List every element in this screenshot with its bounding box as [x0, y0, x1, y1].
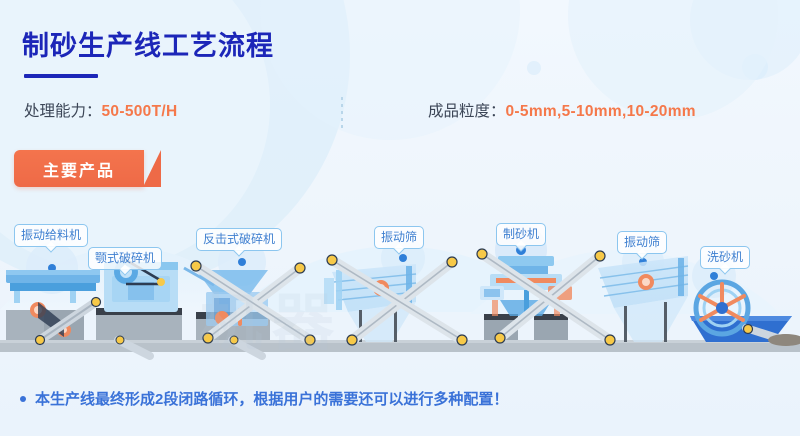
bullet-icon [20, 396, 26, 402]
page-title: 制砂生产线工艺流程 [22, 24, 274, 63]
process-flow-illustration [0, 190, 800, 370]
main-products-banner: 主要产品 [14, 150, 144, 187]
main-products-banner-label: 主要产品 [43, 157, 115, 181]
spec-size: 成品粒度：0-5mm,5-10mm,10-20mm [428, 99, 696, 121]
title-underline [24, 74, 98, 78]
spec-divider [341, 97, 343, 131]
equipment-label-impact-crusher: 反击式破碎机 [196, 228, 282, 251]
equipment-label-vibrating-screen-2: 振动筛 [617, 231, 667, 254]
background-dot-b [527, 61, 541, 75]
spec-size-value: 0-5mm,5-10mm,10-20mm [506, 103, 696, 120]
equipment-label-jaw-crusher: 颚式破碎机 [88, 247, 162, 270]
sand-production-line-infographic: 制砂生产线工艺流程 处理能力：50-500T/H 成品粒度：0-5mm,5-10… [0, 0, 800, 436]
spec-size-label: 成品粒度： [428, 103, 506, 120]
equipment-label-vibrating-feeder: 振动给料机 [14, 224, 88, 247]
spec-capacity-value: 50-500T/H [102, 103, 178, 120]
equipment-label-sand-maker: 制砂机 [496, 223, 546, 246]
footer-note-text: 本生产线最终形成2段闭路循环，根据用户的需要还可以进行多种配置！ [35, 388, 508, 409]
equipment-label-vibrating-screen-1: 振动筛 [374, 226, 424, 249]
spec-capacity-label: 处理能力： [24, 103, 102, 120]
spec-capacity: 处理能力：50-500T/H [24, 99, 177, 121]
equipment-label-sand-washer: 洗砂机 [700, 246, 750, 269]
footer-note: 本生产线最终形成2段闭路循环，根据用户的需要还可以进行多种配置！ [20, 388, 508, 409]
